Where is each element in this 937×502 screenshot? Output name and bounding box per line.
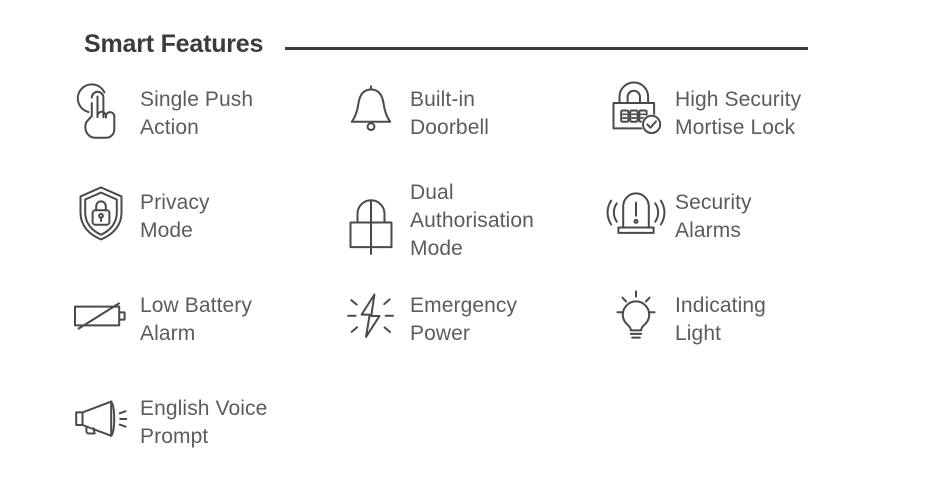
feature-item-low-battery-alarm: Low Battery Alarm [62,282,332,348]
feature-label: Emergency Power [410,282,597,348]
feature-item-security-alarms: Security Alarms [597,179,928,245]
feature-label: Low Battery Alarm [140,282,332,348]
feature-label: Privacy Mode [140,179,332,245]
feature-label: Built-in Doorbell [410,76,597,142]
feature-item-built-in-doorbell: Built-in Doorbell [332,76,597,142]
siren-alert-icon [597,181,675,245]
feature-label: Indicating Light [675,282,928,348]
lightning-bolt-icon [332,284,410,348]
page-title: Smart Features [84,32,263,57]
header-divider-rule [285,47,808,50]
feature-item-dual-authorisation-mode: Dual Authorisation Mode [332,179,597,263]
smart-features-grid: Single Push Action Built-in Doorbell [62,76,928,488]
split-lock-icon [332,195,410,259]
feature-item-privacy-mode: Privacy Mode [62,179,332,245]
bell-icon [332,78,410,142]
feature-item-english-voice-prompt: English Voice Prompt [62,385,332,451]
shield-lock-icon [62,181,140,245]
section-header: Smart Features [0,22,937,66]
battery-low-icon [62,284,140,348]
feature-label: High Security Mortise Lock [675,76,928,142]
megaphone-icon [62,387,140,451]
feature-item-emergency-power: Emergency Power [332,282,597,348]
feature-label: Single Push Action [140,76,332,142]
feature-item-high-security-mortise-lock: High Security Mortise Lock [597,76,928,142]
feature-label: Security Alarms [675,179,928,245]
feature-label: Dual Authorisation Mode [410,179,597,263]
feature-item-single-push-action: Single Push Action [62,76,332,142]
push-hand-icon [62,78,140,142]
feature-label: English Voice Prompt [140,385,332,451]
feature-item-indicating-light: Indicating Light [597,282,928,348]
light-bulb-icon [597,284,675,348]
padlock-check-icon [597,78,675,142]
